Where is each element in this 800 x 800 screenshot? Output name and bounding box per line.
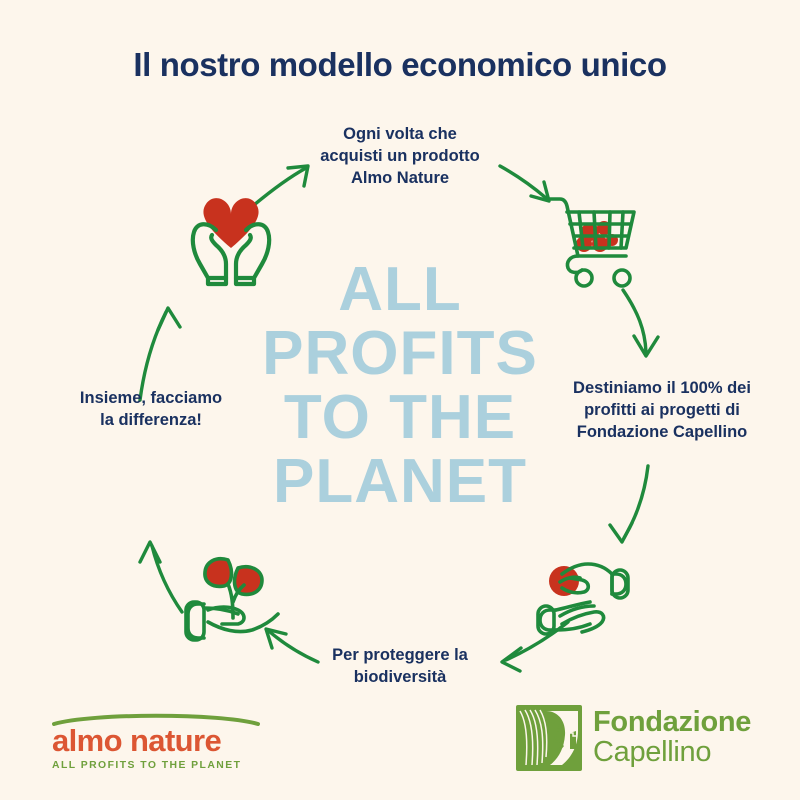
step-label-difference: Insieme, facciamo la differenza! <box>38 388 264 432</box>
fondazione-wordmark: Fondazione Capellino <box>593 708 751 767</box>
arrow-profits-to-coin <box>610 466 648 542</box>
hand-coin-icon <box>520 538 646 655</box>
step-purchase-line-1: Ogni volta che <box>290 124 510 146</box>
shopping-cart-icon <box>534 182 654 299</box>
page-title: Il nostro modello economico unico <box>0 46 800 84</box>
hand-sprout-icon <box>172 538 296 655</box>
step-label-profits: Destiniamo il 100% dei profitti ai proge… <box>544 378 780 443</box>
watermark-line-4: PLANET <box>200 450 600 514</box>
arrow-cart-to-profits <box>623 290 658 356</box>
step-profits-line-1: Destiniamo il 100% dei <box>544 378 780 400</box>
step-biodiversity-line-2: biodiversità <box>300 667 500 689</box>
hands-heart-icon <box>172 178 290 295</box>
almo-nature-logo: almo nature ALL PROFITS TO THE PLANET <box>52 712 262 771</box>
step-purchase-line-3: Almo Nature <box>290 168 510 190</box>
fondazione-woman-mark-icon <box>516 705 582 771</box>
step-profits-line-3: Fondazione Capellino <box>544 422 780 444</box>
infographic-poster: Il nostro modello economico unico ALL PR… <box>0 0 800 800</box>
step-label-purchase: Ogni volta che acquisti un prodotto Almo… <box>290 124 510 189</box>
step-profits-line-2: profitti ai progetti di <box>544 400 780 422</box>
step-purchase-line-2: acquisti un prodotto <box>290 146 510 168</box>
almo-nature-tagline: ALL PROFITS TO THE PLANET <box>52 760 262 771</box>
fondazione-line-1: Fondazione <box>593 708 751 738</box>
fondazione-line-2: Capellino <box>593 738 751 768</box>
arrow-difference-to-heart <box>140 308 180 400</box>
step-biodiversity-line-1: Per proteggere la <box>300 645 500 667</box>
almo-nature-wordmark: almo nature <box>52 725 262 756</box>
watermark-line-2: PROFITS <box>200 322 600 386</box>
fondazione-capellino-logo: Fondazione Capellino <box>516 705 751 771</box>
step-difference-line-2: la differenza! <box>38 410 264 432</box>
step-difference-line-1: Insieme, facciamo <box>38 388 264 410</box>
step-label-biodiversity: Per proteggere la biodiversità <box>300 645 500 689</box>
